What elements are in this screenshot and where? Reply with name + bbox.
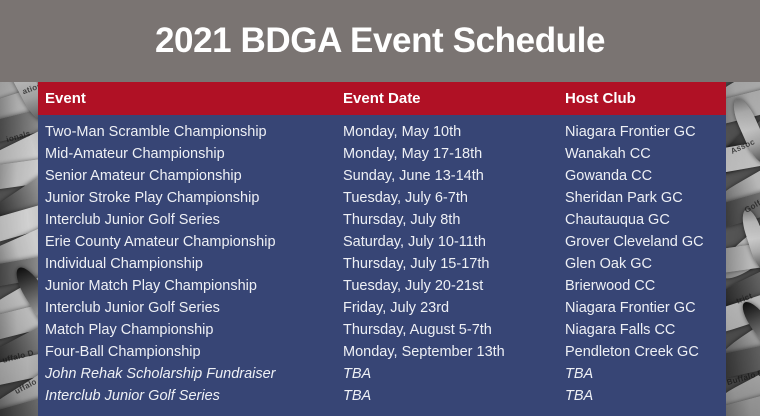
event-schedule-poster: ationionalsuffalo DuffaloBuffalo Distric… [0, 0, 760, 416]
table-row: Junior Stroke Play ChampionshipTuesday, … [38, 187, 726, 209]
table-body: Two-Man Scramble ChampionshipMonday, May… [38, 115, 726, 407]
cell-event: Individual Championship [38, 253, 337, 275]
column-header-host-club: Host Club [559, 90, 726, 107]
cell-event-date: Thursday, July 15-17th [337, 253, 559, 275]
cell-host-club: TBA [559, 363, 726, 385]
cell-event-date: Thursday, July 8th [337, 209, 559, 231]
cell-host-club: Grover Cleveland GC [559, 231, 726, 253]
cell-event-date: Monday, September 13th [337, 341, 559, 363]
cell-host-club: Sheridan Park GC [559, 187, 726, 209]
table-row: Junior Match Play ChampionshipTuesday, J… [38, 275, 726, 297]
page-title: 2021 BDGA Event Schedule [155, 21, 605, 61]
cell-event: Junior Match Play Championship [38, 275, 337, 297]
cell-host-club: Gowanda CC [559, 165, 726, 187]
cell-event: John Rehak Scholarship Fundraiser [38, 363, 337, 385]
cell-event-date: Tuesday, July 20-21st [337, 275, 559, 297]
column-header-event: Event [38, 90, 337, 107]
table-row: Interclub Junior Golf SeriesThursday, Ju… [38, 209, 726, 231]
cell-event: Interclub Junior Golf Series [38, 297, 337, 319]
cell-event-date: Tuesday, July 6-7th [337, 187, 559, 209]
table-header-row: Event Event Date Host Club [38, 82, 726, 115]
cell-event-date: Sunday, June 13-14th [337, 165, 559, 187]
table-row: Individual ChampionshipThursday, July 15… [38, 253, 726, 275]
cell-host-club: Niagara Frontier GC [559, 121, 726, 143]
table-row: Mid-Amateur ChampionshipMonday, May 17-1… [38, 143, 726, 165]
cell-event-date: Friday, July 23rd [337, 297, 559, 319]
cell-event: Interclub Junior Golf Series [38, 209, 337, 231]
table-row: Match Play ChampionshipThursday, August … [38, 319, 726, 341]
cell-host-club: Niagara Falls CC [559, 319, 726, 341]
cell-event: Two-Man Scramble Championship [38, 121, 337, 143]
title-band: 2021 BDGA Event Schedule [0, 0, 760, 82]
cell-host-club: Chautauqua GC [559, 209, 726, 231]
cell-host-club: Wanakah CC [559, 143, 726, 165]
cell-event-date: Monday, May 17-18th [337, 143, 559, 165]
cell-event: Interclub Junior Golf Series [38, 385, 337, 407]
cell-host-club: Niagara Frontier GC [559, 297, 726, 319]
table-row: Senior Amateur ChampionshipSunday, June … [38, 165, 726, 187]
cell-event: Junior Stroke Play Championship [38, 187, 337, 209]
schedule-table: Event Event Date Host Club Two-Man Scram… [38, 82, 726, 416]
cell-event: Four-Ball Championship [38, 341, 337, 363]
cell-host-club: Pendleton Creek GC [559, 341, 726, 363]
table-row: Erie County Amateur ChampionshipSaturday… [38, 231, 726, 253]
cell-event-date: Thursday, August 5-7th [337, 319, 559, 341]
cell-event: Match Play Championship [38, 319, 337, 341]
cell-event-date: Saturday, July 10-11th [337, 231, 559, 253]
cell-event-date: Monday, May 10th [337, 121, 559, 143]
table-row: Interclub Junior Golf SeriesFriday, July… [38, 297, 726, 319]
table-row: Two-Man Scramble ChampionshipMonday, May… [38, 121, 726, 143]
table-row: John Rehak Scholarship FundraiserTBATBA [38, 363, 726, 385]
cell-event-date: TBA [337, 385, 559, 407]
cell-host-club: Glen Oak GC [559, 253, 726, 275]
cell-host-club: Brierwood CC [559, 275, 726, 297]
cell-event: Erie County Amateur Championship [38, 231, 337, 253]
column-header-event-date: Event Date [337, 90, 559, 107]
cell-event-date: TBA [337, 363, 559, 385]
cell-event: Senior Amateur Championship [38, 165, 337, 187]
table-row: Interclub Junior Golf SeriesTBATBA [38, 385, 726, 407]
table-row: Four-Ball ChampionshipMonday, September … [38, 341, 726, 363]
cell-host-club: TBA [559, 385, 726, 407]
cell-event: Mid-Amateur Championship [38, 143, 337, 165]
